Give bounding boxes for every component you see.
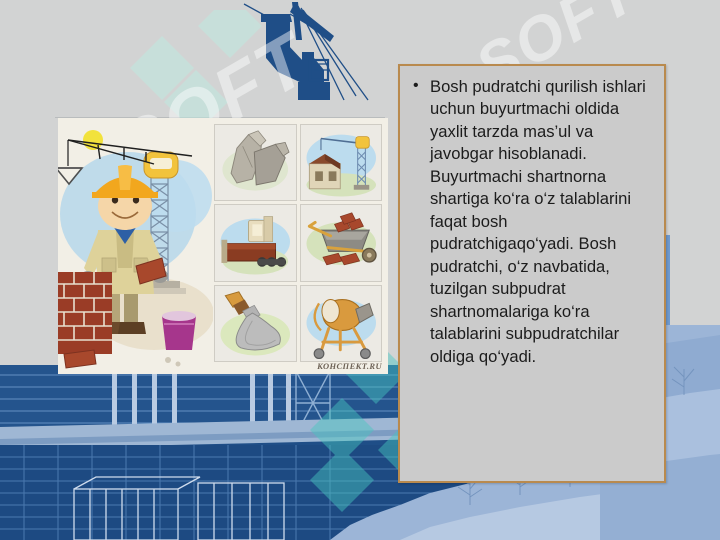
presentation-slide: SOFT SOFT SOFT (0, 0, 720, 540)
panel-trowel (214, 285, 297, 362)
image-credit-watermark: КОНСПЕКТ.RU (317, 361, 382, 371)
tool-panel-grid (214, 124, 382, 362)
work-gloves-icon (215, 125, 296, 200)
content-textbox: Bosh pudratchi qurilish ishlari uchun bu… (398, 64, 666, 483)
bulldozer-icon (215, 205, 296, 280)
panel-wheelbarrow-with-bricks (300, 204, 383, 281)
panel-concrete-mixer (300, 285, 383, 362)
trowel-icon (215, 286, 296, 361)
bullet-list: Bosh pudratchi qurilish ishlari uchun bu… (400, 66, 664, 368)
house-with-crane-icon (301, 125, 382, 200)
concrete-mixer-icon (301, 286, 382, 361)
panel-work-gloves (214, 124, 297, 201)
builder-scene (58, 118, 213, 374)
crane-silhouette-icon (206, 0, 376, 120)
wheelbarrow-icon (301, 205, 382, 280)
panel-house-with-crane (300, 124, 383, 201)
construction-illustration: КОНСПЕКТ.RU (58, 118, 388, 374)
bullet-item: Bosh pudratchi qurilish ishlari uchun bu… (430, 76, 652, 368)
panel-bulldozer (214, 204, 297, 281)
